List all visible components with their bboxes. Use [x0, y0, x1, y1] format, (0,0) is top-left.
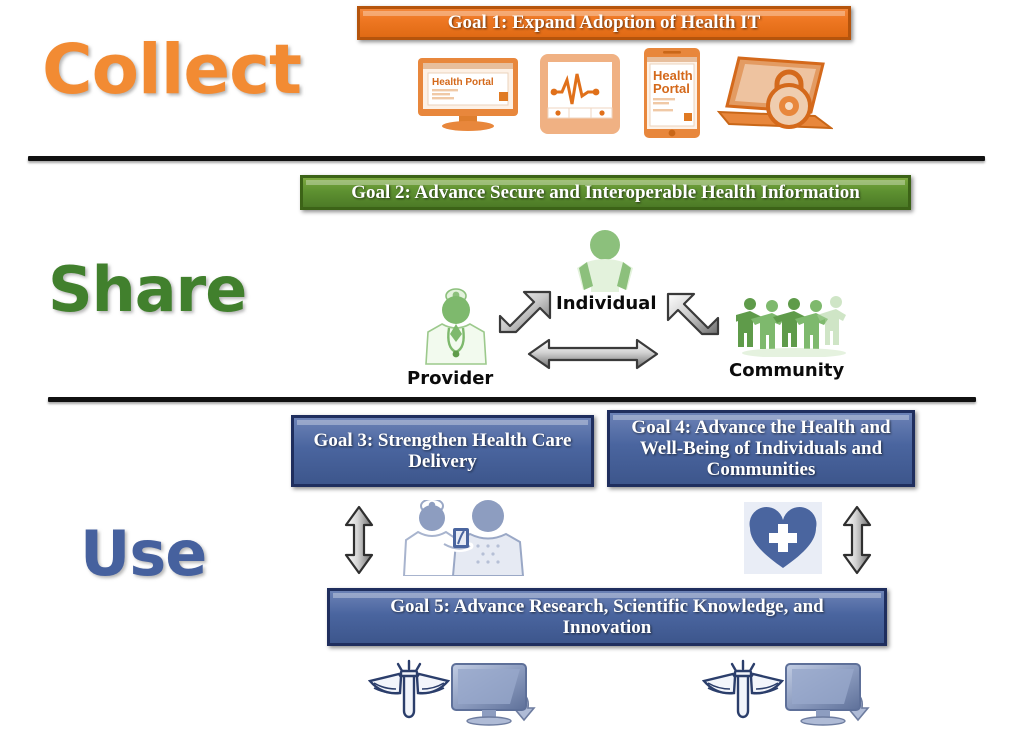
- community-people-icon: [736, 295, 854, 357]
- arrow-individual-community: [662, 290, 724, 340]
- goal-3-banner[interactable]: Goal 3: Strengthen Health Care Delivery: [291, 415, 594, 487]
- community-label: Community: [729, 360, 844, 381]
- care-team-tablet-icon: [390, 500, 530, 576]
- arrow-provider-individual: [494, 288, 556, 338]
- monitor-arrow-icon-left: [450, 660, 540, 730]
- individual-label: Individual: [556, 293, 657, 314]
- section-divider-share-use: [48, 397, 976, 402]
- goal-4-banner[interactable]: Goal 4: Advance the Health and Well-Bein…: [607, 410, 915, 487]
- provider-label: Provider: [407, 368, 493, 389]
- goal-2-banner[interactable]: Goal 2: Advance Secure and Interoperable…: [300, 175, 911, 210]
- desktop-health-portal-icon: Health Portal: [415, 56, 521, 132]
- arrow-provider-community: [527, 338, 659, 370]
- stage-word-collect: Collect: [42, 30, 301, 110]
- arrow-goal4-goal5: [842, 505, 872, 575]
- svg-text:Portal: Portal: [653, 81, 690, 96]
- tablet-heartbeat-icon: [538, 52, 622, 136]
- winged-test-tube-icon-right: [702, 655, 784, 725]
- goal-5-banner[interactable]: Goal 5: Advance Research, Scientific Kno…: [327, 588, 887, 646]
- provider-doctor-icon: [418, 288, 494, 366]
- svg-text:Health Portal: Health Portal: [432, 77, 494, 88]
- section-divider-collect-share: [28, 156, 985, 161]
- individual-person-icon: [565, 230, 645, 292]
- stage-word-use: Use: [80, 517, 206, 590]
- goal-1-banner[interactable]: Goal 1: Expand Adoption of Health IT: [357, 6, 851, 40]
- arrow-goal3-goal5: [344, 505, 374, 575]
- heart-cross-icon: [744, 502, 822, 574]
- monitor-arrow-icon-right: [784, 660, 874, 730]
- stage-word-share: Share: [48, 253, 246, 326]
- phone-health-portal-icon: Health Portal: [643, 47, 701, 139]
- winged-test-tube-icon-left: [368, 655, 450, 725]
- infographic-canvas: Collect Goal 1: Expand Adoption of Healt…: [0, 0, 1024, 743]
- laptop-padlock-icon: [715, 54, 833, 136]
